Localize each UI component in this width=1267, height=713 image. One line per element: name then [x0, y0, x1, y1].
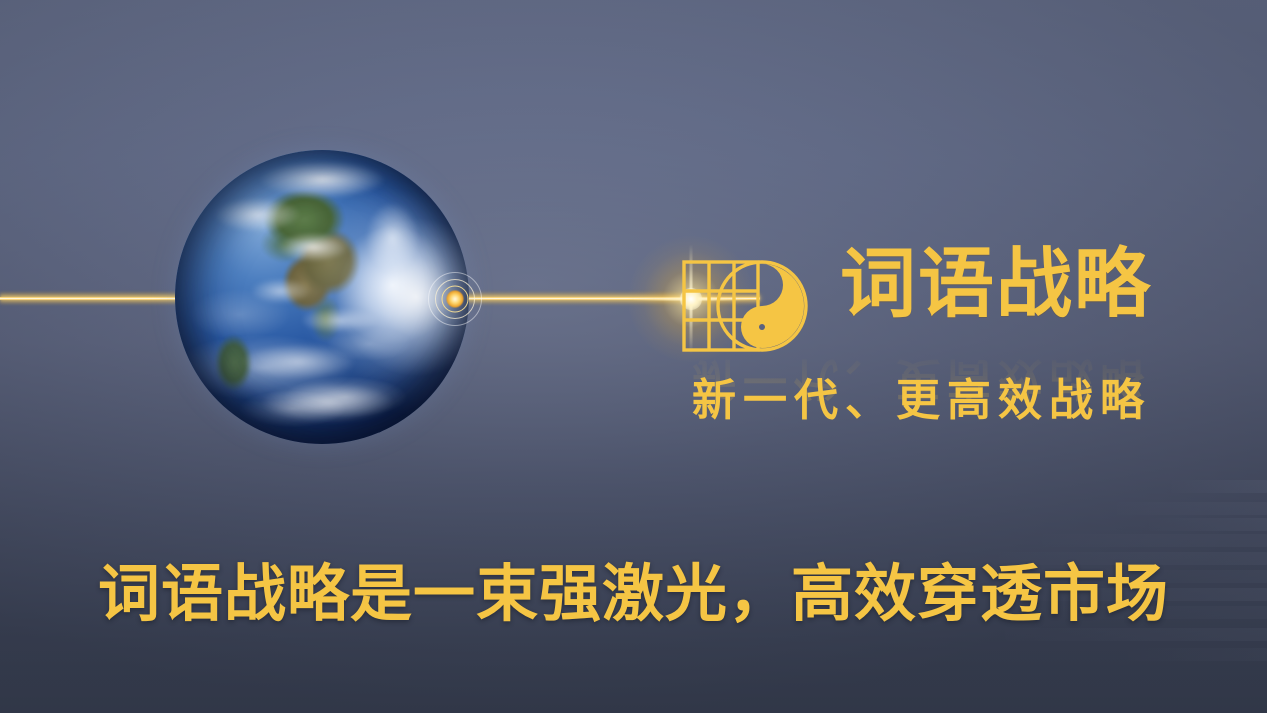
- speed-line-0: [1171, 480, 1267, 493]
- cyzl-logo-mark-icon: [676, 256, 824, 356]
- brand-title: 词语战略: [840, 246, 1152, 324]
- speed-line-2: [1149, 518, 1267, 531]
- speed-line-1: [1117, 502, 1267, 515]
- speed-line-9: [1127, 648, 1267, 661]
- brand-logo-row: 词语战略: [676, 252, 1216, 360]
- slide-canvas: 词语战略 新一代、更高效战略 新一代、更高效战略 词语战略是一束强激光，高效穿透…: [0, 0, 1267, 713]
- earth-sphere: [175, 150, 469, 444]
- brand-tagline: 新一代、更高效战略: [692, 364, 1151, 428]
- slide-headline: 词语战略是一束强激光，高效穿透市场: [0, 543, 1267, 633]
- earth-globe: [175, 150, 469, 444]
- earth-shading: [175, 150, 469, 444]
- brand-logo-block: 词语战略 新一代、更高效战略 新一代、更高效战略: [676, 252, 1216, 432]
